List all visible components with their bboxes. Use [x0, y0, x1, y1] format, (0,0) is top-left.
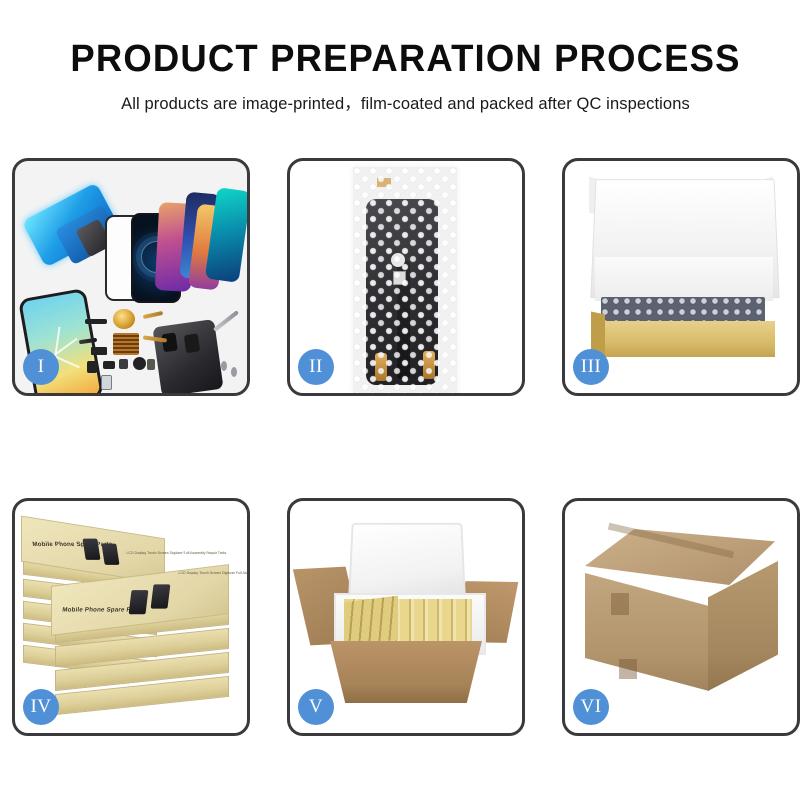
- gold-coil-part: [113, 309, 135, 329]
- screw-part: [221, 361, 227, 371]
- box-spec-lines: LCD Display Touch Screen Digitizer Full …: [126, 551, 227, 557]
- box-phone-image: [101, 544, 119, 565]
- process-step-card-5[interactable]: V: [287, 498, 525, 736]
- kraft-box-base: [591, 321, 775, 357]
- step-numeral-badge-5: V: [298, 689, 334, 725]
- small-part: [85, 319, 107, 324]
- phone-back-housing: [152, 319, 223, 393]
- page-title: PRODUCT PREPARATION PROCESS: [16, 40, 795, 80]
- screw-part: [231, 367, 237, 377]
- header: PRODUCT PREPARATION PROCESS All products…: [0, 0, 811, 114]
- page-subtitle: All products are image-printed，film-coat…: [0, 90, 811, 114]
- outer-carton: [330, 641, 482, 703]
- carton-tape-upper: [611, 593, 629, 615]
- contact-grid-chip: [113, 333, 139, 355]
- process-step-card-3[interactable]: III: [562, 158, 800, 396]
- screwdriver-tool: [213, 310, 239, 332]
- small-part: [101, 375, 112, 390]
- process-step-card-1[interactable]: I: [12, 158, 250, 396]
- box-spec-lines: LCD Display Touch Screen Digitizer Full …: [178, 571, 247, 577]
- box-phone-image: [129, 590, 149, 614]
- step-numeral-badge-1: I: [23, 349, 59, 385]
- carton-tape-lower: [619, 659, 637, 679]
- box-phone-image: [151, 584, 171, 608]
- process-step-card-2[interactable]: II: [287, 158, 525, 396]
- product-preparation-infographic: PRODUCT PREPARATION PROCESS All products…: [0, 0, 811, 811]
- small-part: [147, 359, 155, 370]
- box-phone-image: [82, 539, 100, 560]
- small-part: [119, 359, 128, 369]
- carton-top-face: [585, 529, 775, 585]
- step-numeral-badge-2: II: [298, 349, 334, 385]
- foam-box-lid: [348, 523, 466, 597]
- foam-sheet: [595, 257, 773, 301]
- process-step-card-4[interactable]: Mobile Phone Spare Parts LCD Display Tou…: [12, 498, 250, 736]
- bubble-texture: [353, 167, 457, 393]
- carton-left-face: [585, 573, 709, 691]
- small-part: [87, 361, 97, 373]
- flex-cable: [143, 311, 163, 319]
- small-part: [103, 361, 115, 369]
- step-numeral-badge-3: III: [573, 349, 609, 385]
- process-step-card-6[interactable]: VI: [562, 498, 800, 736]
- small-part: [133, 357, 146, 370]
- process-step-grid: I II: [12, 158, 801, 736]
- step-numeral-badge-6: VI: [573, 689, 609, 725]
- small-part: [91, 347, 107, 355]
- gold-boxes-angled: [344, 596, 398, 647]
- step-numeral-badge-4: IV: [23, 689, 59, 725]
- bubble-wrap-bag: [353, 167, 457, 393]
